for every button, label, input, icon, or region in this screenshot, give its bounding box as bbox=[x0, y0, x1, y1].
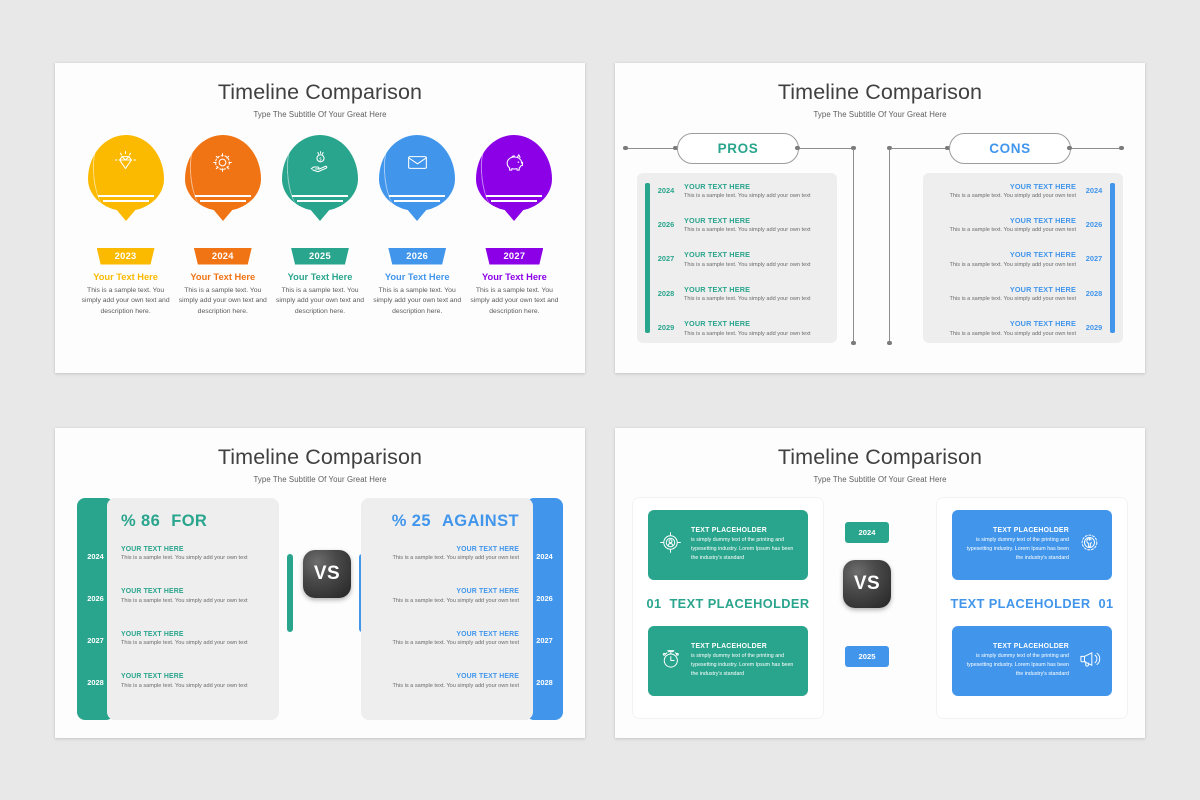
page-title: Timeline Comparison bbox=[615, 80, 1145, 105]
box-heading: TEXT PLACEHOLDER bbox=[962, 527, 1069, 534]
for-row-list: YOUR TEXT HERE This is a sample text. Yo… bbox=[121, 546, 265, 716]
rail-line-cons-right bbox=[1069, 148, 1121, 149]
card-number: 01 bbox=[1098, 596, 1113, 611]
envelope-icon bbox=[379, 149, 455, 181]
row-body: This is a sample text. You simply add yo… bbox=[121, 640, 265, 646]
slide-header: Timeline Comparison Type The Subtitle Of… bbox=[55, 63, 585, 119]
timeline-row[interactable]: 2026 YOUR TEXT HERE This is a sample tex… bbox=[655, 216, 829, 250]
for-stub-bar bbox=[287, 554, 293, 632]
row-body: This is a sample text. You simply add yo… bbox=[684, 193, 829, 199]
row-heading: YOUR TEXT HERE bbox=[684, 319, 829, 328]
row-body: This is a sample text. You simply add yo… bbox=[684, 262, 829, 268]
timeline-row[interactable]: 2024 YOUR TEXT HERE This is a sample tex… bbox=[655, 182, 829, 216]
slide-header: Timeline Comparison Type The Subtitle Of… bbox=[615, 428, 1145, 484]
pin-marker[interactable] bbox=[185, 135, 261, 243]
pros-cons-area: PROS CONS 2024 YOUR TEXT HERE This is a … bbox=[615, 132, 1145, 357]
timeline-row[interactable]: 2029 YOUR TEXT HERE This is a sample tex… bbox=[655, 319, 829, 353]
cons-pill[interactable]: CONS bbox=[949, 133, 1071, 164]
vs-badge: VS bbox=[303, 550, 351, 598]
placeholder-box[interactable]: TEXT PLACEHOLDER is simply dummy text of… bbox=[648, 510, 808, 580]
timeline-row[interactable]: YOUR TEXT HERE This is a sample text. Yo… bbox=[931, 182, 1105, 216]
placeholder-box[interactable]: TEXT PLACEHOLDER is simply dummy text of… bbox=[648, 626, 808, 696]
row-body: This is a sample text. You simply add yo… bbox=[375, 640, 519, 646]
hand-coin-icon: $ bbox=[282, 149, 358, 181]
diamond-icon bbox=[88, 149, 164, 181]
box-body: is simply dummy text of the printing and… bbox=[691, 652, 798, 679]
pros-panel: 2024 YOUR TEXT HERE This is a sample tex… bbox=[637, 173, 837, 343]
row-body: This is a sample text. You simply add yo… bbox=[931, 331, 1076, 337]
year-badge-2024[interactable]: 2024 bbox=[845, 522, 889, 543]
pin-item[interactable]: 2023 Your Text Here This is a sample tex… bbox=[77, 135, 174, 318]
row-body: This is a sample text. You simply add yo… bbox=[375, 555, 519, 561]
row-heading: YOUR TEXT HERE bbox=[931, 216, 1076, 225]
rail-dot-center-left-bottom bbox=[851, 341, 856, 346]
for-label: FOR bbox=[171, 512, 207, 531]
rail-vertical-right bbox=[889, 149, 890, 344]
row-heading: YOUR TEXT HERE bbox=[121, 546, 265, 553]
page-title: Timeline Comparison bbox=[55, 80, 585, 105]
against-row-list: YOUR TEXT HERE This is a sample text. Yo… bbox=[375, 546, 519, 716]
pin-stripes bbox=[389, 195, 445, 206]
row-body: This is a sample text. You simply add yo… bbox=[684, 296, 829, 302]
for-against-area: 2024202620272028 % 86 FOR YOUR TEXT HERE… bbox=[55, 498, 585, 724]
timeline-row[interactable]: YOUR TEXT HERE This is a sample text. Yo… bbox=[931, 216, 1105, 250]
cons-accent-bar bbox=[1110, 183, 1115, 333]
box-heading: TEXT PLACEHOLDER bbox=[691, 527, 798, 534]
pin-marker[interactable] bbox=[476, 135, 552, 243]
rail-dot-pros-right bbox=[795, 146, 800, 151]
left-card: TEXT PLACEHOLDER is simply dummy text of… bbox=[633, 498, 823, 718]
timeline-row[interactable]: YOUR TEXT HERE This is a sample text. Yo… bbox=[931, 319, 1105, 353]
row-heading: YOUR TEXT HERE bbox=[121, 673, 265, 680]
pros-accent-bar bbox=[645, 183, 650, 333]
row-body: This is a sample text. You simply add yo… bbox=[121, 555, 265, 561]
row-year: 2024 bbox=[1083, 182, 1105, 195]
slide-header: Timeline Comparison Type The Subtitle Of… bbox=[55, 428, 585, 484]
page-subtitle: Type The Subtitle Of Your Great Here bbox=[55, 475, 585, 484]
row-body: This is a sample text. You simply add yo… bbox=[931, 193, 1076, 199]
pin-year-badge[interactable]: 2027 bbox=[485, 248, 543, 265]
row-year: 2029 bbox=[1083, 319, 1105, 332]
row-year: 2027 bbox=[1083, 250, 1105, 263]
timeline-row[interactable]: YOUR TEXT HERE This is a sample text. Yo… bbox=[375, 588, 519, 631]
box-heading: TEXT PLACEHOLDER bbox=[691, 643, 798, 650]
pin-marker[interactable] bbox=[88, 135, 164, 243]
card-mid-label: TEXT PLACEHOLDER 01 bbox=[937, 596, 1127, 611]
row-heading: YOUR TEXT HERE bbox=[375, 546, 519, 553]
page-title: Timeline Comparison bbox=[55, 445, 585, 470]
pros-row-list: 2024 YOUR TEXT HERE This is a sample tex… bbox=[637, 182, 837, 354]
piggy-bank-icon bbox=[476, 149, 552, 181]
pin-year-badge[interactable]: 2025 bbox=[291, 248, 349, 265]
against-panel: 2024202620272028 % 25 AGAINST YOUR TEXT … bbox=[361, 498, 563, 720]
pin-stripes bbox=[486, 195, 542, 206]
row-year: 2029 bbox=[655, 319, 677, 332]
pin-heading: Your Text Here bbox=[385, 272, 450, 282]
row-year: 2026 bbox=[655, 216, 677, 229]
rail-dot-cons-right bbox=[1067, 146, 1072, 151]
pin-stripes bbox=[292, 195, 348, 206]
slide-pins: Timeline Comparison Type The Subtitle Of… bbox=[55, 63, 585, 373]
for-body: % 86 FOR YOUR TEXT HERE This is a sample… bbox=[107, 498, 279, 720]
pin-item[interactable]: 2024 Your Text Here This is a sample tex… bbox=[174, 135, 271, 318]
cons-row-list: YOUR TEXT HERE This is a sample text. Yo… bbox=[923, 182, 1123, 354]
row-body: This is a sample text. You simply add yo… bbox=[375, 683, 519, 689]
slide-placeholders: Timeline Comparison Type The Subtitle Of… bbox=[615, 428, 1145, 738]
timeline-row[interactable]: 2028 YOUR TEXT HERE This is a sample tex… bbox=[655, 285, 829, 319]
box-body: is simply dummy text of the printing and… bbox=[691, 536, 798, 563]
row-body: This is a sample text. You simply add yo… bbox=[684, 331, 829, 337]
slide-for-against: Timeline Comparison Type The Subtitle Of… bbox=[55, 428, 585, 738]
row-heading: YOUR TEXT HERE bbox=[375, 673, 519, 680]
pin-stripes bbox=[98, 195, 154, 206]
row-body: This is a sample text. You simply add yo… bbox=[931, 227, 1076, 233]
for-panel: 2024202620272028 % 86 FOR YOUR TEXT HERE… bbox=[77, 498, 279, 720]
row-body: This is a sample text. You simply add yo… bbox=[684, 227, 829, 233]
timeline-row[interactable]: 2027 YOUR TEXT HERE This is a sample tex… bbox=[655, 250, 829, 284]
rail-dot-far-right bbox=[1119, 146, 1124, 151]
against-title: % 25 AGAINST bbox=[375, 512, 519, 531]
box-body: is simply dummy text of the printing and… bbox=[962, 652, 1069, 679]
placeholder-box[interactable]: TEXT PLACEHOLDER is simply dummy text of… bbox=[952, 626, 1112, 696]
row-year: 2028 bbox=[1083, 285, 1105, 298]
card-mid-label: 01 TEXT PLACEHOLDER bbox=[633, 596, 823, 611]
row-year: 2027 bbox=[655, 250, 677, 263]
row-body: This is a sample text. You simply add yo… bbox=[931, 262, 1076, 268]
rail-line-cons-left bbox=[891, 148, 947, 149]
placeholder-box[interactable]: TEXT PLACEHOLDER is simply dummy text of… bbox=[952, 510, 1112, 580]
pin-year-badge[interactable]: 2026 bbox=[388, 248, 446, 265]
row-heading: YOUR TEXT HERE bbox=[375, 588, 519, 595]
pin-marker[interactable] bbox=[379, 135, 455, 243]
cons-panel: YOUR TEXT HERE This is a sample text. Yo… bbox=[923, 173, 1123, 343]
rail-line-pros-right bbox=[797, 148, 855, 149]
card-label: TEXT PLACEHOLDER bbox=[669, 596, 809, 611]
pin-body-text: This is a sample text. You simply add yo… bbox=[175, 286, 271, 318]
row-heading: YOUR TEXT HERE bbox=[684, 285, 829, 294]
for-percent: % 86 bbox=[121, 512, 160, 531]
row-heading: YOUR TEXT HERE bbox=[375, 631, 519, 638]
row-body: This is a sample text. You simply add yo… bbox=[931, 296, 1076, 302]
timeline-row[interactable]: YOUR TEXT HERE This is a sample text. Yo… bbox=[121, 546, 265, 589]
megaphone-icon bbox=[1077, 646, 1102, 676]
slide-pros-cons: Timeline Comparison Type The Subtitle Of… bbox=[615, 63, 1145, 373]
timeline-row[interactable]: YOUR TEXT HERE This is a sample text. Yo… bbox=[121, 631, 265, 674]
box-body: is simply dummy text of the printing and… bbox=[962, 536, 1069, 563]
pin-year-badge[interactable]: 2023 bbox=[97, 248, 155, 265]
pros-pill[interactable]: PROS bbox=[677, 133, 799, 164]
pin-heading: Your Text Here bbox=[93, 272, 158, 282]
page-subtitle: Type The Subtitle Of Your Great Here bbox=[615, 475, 1145, 484]
row-year: 2028 bbox=[655, 285, 677, 298]
pin-item[interactable]: 2027 Your Text Here This is a sample tex… bbox=[466, 135, 563, 318]
row-heading: YOUR TEXT HERE bbox=[931, 182, 1076, 191]
row-body: This is a sample text. You simply add yo… bbox=[121, 683, 265, 689]
row-heading: YOUR TEXT HERE bbox=[121, 631, 265, 638]
row-heading: YOUR TEXT HERE bbox=[931, 285, 1076, 294]
pin-heading: Your Text Here bbox=[190, 272, 255, 282]
rail-dot-far-left bbox=[623, 146, 628, 151]
pin-body-text: This is a sample text. You simply add yo… bbox=[466, 286, 562, 318]
row-heading: YOUR TEXT HERE bbox=[931, 319, 1076, 328]
timeline-row[interactable]: YOUR TEXT HERE This is a sample text. Yo… bbox=[121, 673, 265, 716]
pin-body-text: This is a sample text. You simply add yo… bbox=[272, 286, 368, 318]
against-body: % 25 AGAINST YOUR TEXT HERE This is a sa… bbox=[361, 498, 533, 720]
stopwatch-icon bbox=[658, 646, 683, 676]
pin-body-text: This is a sample text. You simply add yo… bbox=[369, 286, 465, 318]
pin-heading: Your Text Here bbox=[288, 272, 353, 282]
page-subtitle: Type The Subtitle Of Your Great Here bbox=[615, 110, 1145, 119]
pin-stripes bbox=[195, 195, 251, 206]
right-card: TEXT PLACEHOLDER is simply dummy text of… bbox=[937, 498, 1127, 718]
year-badge-2025[interactable]: 2025 bbox=[845, 646, 889, 667]
rail-vertical-left bbox=[853, 149, 854, 344]
row-year: 2026 bbox=[1083, 216, 1105, 229]
placeholder-area: TEXT PLACEHOLDER is simply dummy text of… bbox=[615, 498, 1145, 726]
slide-header: Timeline Comparison Type The Subtitle Of… bbox=[615, 63, 1145, 119]
page-title: Timeline Comparison bbox=[615, 445, 1145, 470]
pin-item[interactable]: 2026 Your Text Here This is a sample tex… bbox=[369, 135, 466, 318]
timeline-row[interactable]: YOUR TEXT HERE This is a sample text. Yo… bbox=[121, 588, 265, 631]
slide-deck: Timeline Comparison Type The Subtitle Of… bbox=[0, 0, 1200, 800]
timeline-row[interactable]: YOUR TEXT HERE This is a sample text. Yo… bbox=[375, 546, 519, 589]
row-heading: YOUR TEXT HERE bbox=[121, 588, 265, 595]
against-label: AGAINST bbox=[442, 512, 519, 531]
timeline-row[interactable]: YOUR TEXT HERE This is a sample text. Yo… bbox=[931, 250, 1105, 284]
row-heading: YOUR TEXT HERE bbox=[684, 216, 829, 225]
gear-wrench-icon bbox=[1077, 530, 1102, 560]
row-heading: YOUR TEXT HERE bbox=[684, 250, 829, 259]
pin-body-text: This is a sample text. You simply add yo… bbox=[78, 286, 174, 318]
row-body: This is a sample text. You simply add yo… bbox=[375, 598, 519, 604]
card-label: TEXT PLACEHOLDER bbox=[950, 596, 1090, 611]
rail-line-left bbox=[625, 148, 675, 149]
vs-badge: VS bbox=[843, 560, 891, 608]
for-title: % 86 FOR bbox=[121, 512, 265, 531]
row-body: This is a sample text. You simply add yo… bbox=[121, 598, 265, 604]
gear-icon bbox=[185, 149, 261, 181]
row-heading: YOUR TEXT HERE bbox=[684, 182, 829, 191]
pin-row: 2023 Your Text Here This is a sample tex… bbox=[55, 135, 585, 318]
pin-heading: Your Text Here bbox=[482, 272, 547, 282]
box-heading: TEXT PLACEHOLDER bbox=[962, 643, 1069, 650]
against-percent: % 25 bbox=[392, 512, 431, 531]
row-heading: YOUR TEXT HERE bbox=[931, 250, 1076, 259]
row-year: 2024 bbox=[655, 182, 677, 195]
pin-item[interactable]: $ 2025 Your Text Here This is a sample t… bbox=[271, 135, 368, 318]
rail-dot-center-right-bottom bbox=[887, 341, 892, 346]
pin-marker[interactable]: $ bbox=[282, 135, 358, 243]
pin-year-badge[interactable]: 2024 bbox=[194, 248, 252, 265]
timeline-row[interactable]: YOUR TEXT HERE This is a sample text. Yo… bbox=[931, 285, 1105, 319]
timeline-row[interactable]: YOUR TEXT HERE This is a sample text. Yo… bbox=[375, 631, 519, 674]
svg-text:$: $ bbox=[319, 156, 322, 162]
target-person-icon bbox=[658, 530, 683, 560]
timeline-row[interactable]: YOUR TEXT HERE This is a sample text. Yo… bbox=[375, 673, 519, 716]
page-subtitle: Type The Subtitle Of Your Great Here bbox=[55, 110, 585, 119]
card-number: 01 bbox=[646, 596, 661, 611]
